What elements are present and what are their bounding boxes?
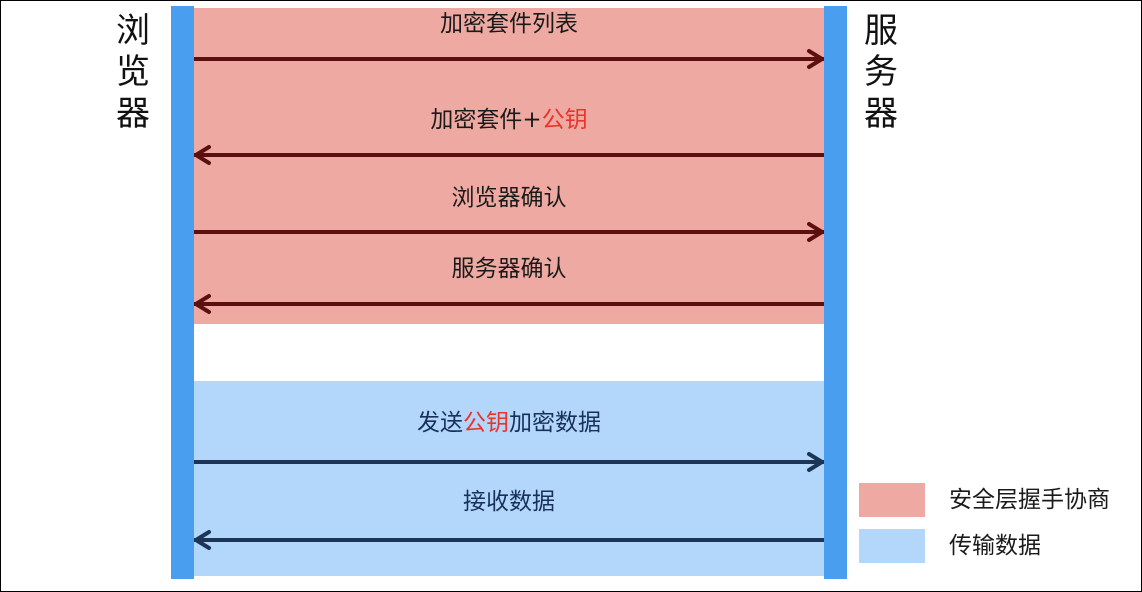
actor-label-server-char-2: 务 (859, 52, 903, 93)
message-2-label: 加密套件+公钥 (194, 109, 824, 132)
arrow-left-icon (192, 529, 214, 551)
message-4-label-prefix: 服务器确认 (452, 256, 567, 282)
message-5-label-highlight: 公钥 (463, 410, 509, 436)
legend-item-transfer: 传输数据 (859, 523, 1110, 569)
lifeline-server (824, 6, 847, 579)
actor-label-browser-char-1: 浏 (111, 11, 155, 52)
message-5-label: 发送公钥加密数据 (194, 412, 824, 435)
legend-item-handshake: 安全层握手协商 (859, 477, 1110, 523)
message-1-label: 加密套件列表 (194, 13, 824, 36)
arrow-right-icon (804, 451, 826, 473)
message-6-label-prefix: 接收数据 (463, 489, 555, 515)
legend: 安全层握手协商 传输数据 (859, 477, 1110, 569)
message-4-label: 服务器确认 (194, 258, 824, 281)
actor-label-server: 服 务 器 (859, 11, 903, 135)
actor-label-server-char-1: 服 (859, 11, 903, 52)
message-5-line (194, 460, 824, 464)
message-2-line (194, 153, 824, 157)
arrow-left-icon (192, 293, 214, 315)
message-4-line (194, 302, 824, 306)
message-2-label-prefix: 加密套件+ (430, 107, 541, 133)
arrow-right-icon (804, 48, 826, 70)
message-3-label: 浏览器确认 (194, 187, 824, 210)
message-3-label-prefix: 浏览器确认 (452, 185, 567, 211)
message-6-label: 接收数据 (194, 491, 824, 514)
legend-swatch-handshake (859, 483, 925, 517)
actor-label-server-char-3: 器 (859, 94, 903, 135)
legend-label-transfer: 传输数据 (949, 535, 1041, 558)
message-2-label-highlight: 公钥 (542, 107, 588, 133)
arrow-right-icon (804, 221, 826, 243)
message-3-line (194, 230, 824, 234)
sequence-diagram-canvas: 浏 览 器 服 务 器 加密套件列表 加密套件+公钥 (0, 0, 1142, 592)
message-5-label-prefix: 发送 (417, 410, 463, 436)
message-1-line (194, 57, 824, 61)
lifeline-browser (171, 6, 194, 579)
message-5-label-suffix: 加密数据 (509, 410, 601, 436)
actor-label-browser: 浏 览 器 (111, 11, 155, 135)
arrow-left-icon (192, 144, 214, 166)
legend-swatch-transfer (859, 529, 925, 563)
message-1-label-prefix: 加密套件列表 (440, 11, 578, 37)
actor-label-browser-char-3: 器 (111, 94, 155, 135)
actor-label-browser-char-2: 览 (111, 52, 155, 93)
message-6-line (194, 538, 824, 542)
legend-label-handshake: 安全层握手协商 (949, 489, 1110, 512)
